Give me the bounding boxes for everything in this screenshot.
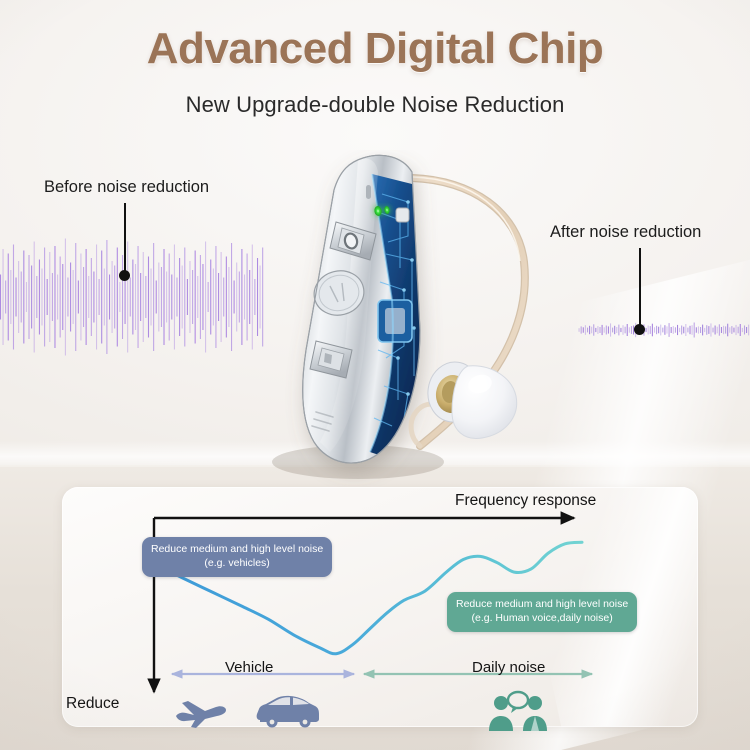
hearing-aid-product-image bbox=[120, 150, 680, 490]
daily-noise-tag-line2: (e.g. Human voice,daily noise) bbox=[456, 612, 628, 626]
callout-after-leader-line bbox=[639, 248, 641, 328]
product-infographic: Advanced Digital Chip New Upgrade-double… bbox=[0, 0, 750, 750]
x-axis-label: Frequency response bbox=[455, 492, 596, 510]
callout-before-leader-line bbox=[124, 203, 126, 275]
callout-before-label: Before noise reduction bbox=[44, 178, 209, 197]
callout-after-leader-dot bbox=[634, 324, 645, 335]
segment-label-vehicle: Vehicle bbox=[225, 659, 273, 676]
callout-after-label: After noise reduction bbox=[550, 223, 701, 242]
segment-label-daily-noise: Daily noise bbox=[472, 659, 545, 676]
people-talking-icon bbox=[487, 690, 549, 739]
page-title: Advanced Digital Chip bbox=[0, 24, 750, 74]
daily-noise-tag: Reduce medium and high level noise (e.g.… bbox=[447, 592, 637, 632]
airplane-icon bbox=[172, 694, 228, 735]
vehicle-noise-tag-line2: (e.g. vehicles) bbox=[151, 557, 323, 571]
vehicle-noise-tag: Reduce medium and high level noise (e.g.… bbox=[142, 537, 332, 577]
callout-before-leader-dot bbox=[119, 270, 130, 281]
vehicle-noise-tag-line1: Reduce medium and high level noise bbox=[151, 543, 323, 555]
page-subtitle: New Upgrade-double Noise Reduction bbox=[0, 92, 750, 118]
daily-noise-tag-line1: Reduce medium and high level noise bbox=[456, 598, 628, 610]
y-axis-label: Reduce bbox=[66, 695, 119, 713]
car-icon bbox=[255, 692, 321, 735]
